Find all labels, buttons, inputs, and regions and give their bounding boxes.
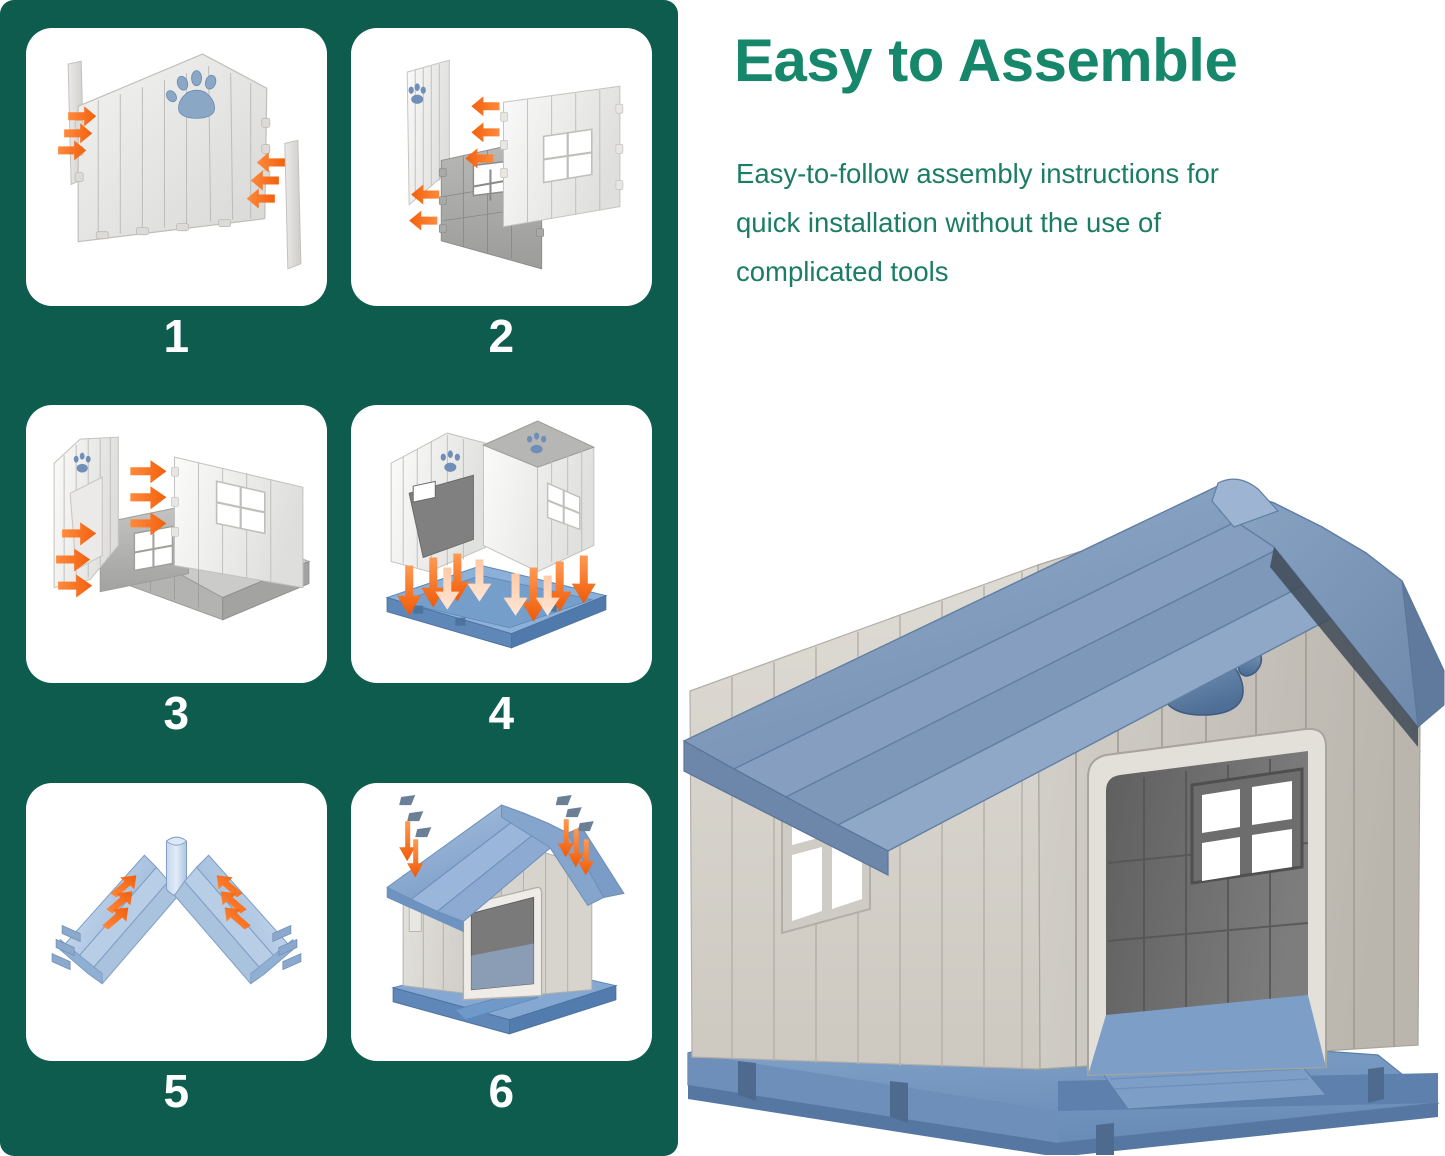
step-6: 6: [339, 769, 664, 1146]
step-2: 2: [339, 14, 664, 391]
floor-base-tray: [387, 566, 606, 648]
infographic-root: 1: [0, 0, 1445, 1156]
step-2-illustration: [351, 28, 652, 306]
step-3-join-three-walls: [26, 405, 327, 683]
right-content: Easy to Assemble Easy-to-follow assembly…: [678, 0, 1445, 1156]
right-trim-strip: [285, 140, 301, 268]
step-6-number: 6: [351, 1067, 652, 1115]
assembly-steps-panel: 1: [0, 0, 678, 1156]
description-line-1: Easy-to-follow assembly instructions for: [736, 150, 1416, 199]
step-1-illustration: [26, 28, 327, 306]
step-3-number: 3: [26, 689, 327, 737]
right-roof-panel: [174, 855, 300, 983]
right-side-wall: [171, 458, 302, 588]
step-4-number: 4: [351, 689, 652, 737]
left-wall-assembly: [391, 433, 485, 571]
description-line-3: complicated tools: [736, 248, 1416, 297]
steps-grid: 1: [0, 0, 678, 1156]
door-opening: [1088, 729, 1326, 1075]
right-wall-assembly: [483, 421, 593, 571]
page-title: Easy to Assemble: [734, 28, 1434, 94]
step-4-lower-walls-onto-base: [351, 405, 652, 683]
step-5: 5: [14, 769, 339, 1146]
step-1-front-panel-with-side-trims: [26, 28, 327, 306]
step-5-number: 5: [26, 1067, 327, 1115]
dog-house-product-photo: [678, 455, 1445, 1155]
front-wall-panel: [75, 54, 270, 242]
step-1: 1: [14, 14, 339, 391]
step-2-attach-side-wall-with-window: [351, 28, 652, 306]
dog-house-render: [678, 455, 1445, 1155]
step-3: 3: [14, 391, 339, 768]
description-line-2: quick installation without the use of: [736, 199, 1416, 248]
left-roof-panel: [52, 855, 178, 983]
step-4: 4: [339, 391, 664, 768]
interior-window: [1192, 769, 1302, 883]
step-3-illustration: [26, 405, 327, 683]
step-5-illustration: [26, 783, 327, 1061]
side-wall-panel-with-window: [500, 86, 622, 226]
step-4-illustration: [351, 405, 652, 683]
description-text: Easy-to-follow assembly instructions for…: [736, 150, 1416, 297]
step-1-number: 1: [26, 312, 327, 360]
step-6-illustration: [351, 783, 652, 1061]
window-cutout: [544, 129, 592, 182]
step-2-number: 2: [351, 312, 652, 360]
step-6-install-roof-on-house: [351, 783, 652, 1061]
step-5-roof-panels-and-ridge-cap: [26, 783, 327, 1061]
